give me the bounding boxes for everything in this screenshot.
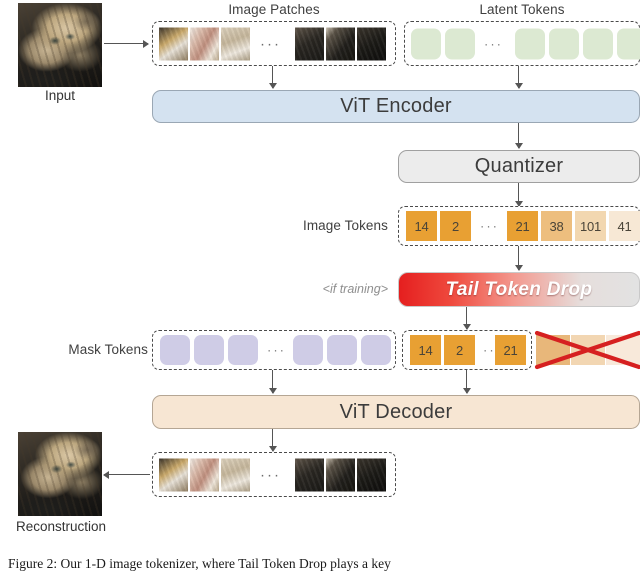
latent-tokens-ellipsis: ··· [484,37,503,50]
output-patch-light-3 [221,458,250,491]
mask-tokens-group: ··· [152,330,396,370]
latent-token-3 [515,28,545,59]
arrow-encoder-to-quantizer [518,123,519,148]
image-tokens-group: 14 2 ··· 21 38 101 41 [398,206,640,246]
arrow-kept-tokens-to-decoder [466,370,467,393]
kept-token-14: 14 [410,335,441,365]
mask-token-2 [194,335,224,365]
output-patch-dark-2 [326,458,355,491]
output-patch-dark-3 [357,458,386,491]
dropped-tokens-group [536,335,640,365]
arrow-image-tokens-to-drop [518,246,519,270]
kept-token-21: 21 [495,335,526,365]
output-patch-light-2 [190,458,219,491]
latent-tokens-group: ··· [404,21,640,66]
image-token-101: 101 [575,211,606,241]
reconstruction-label: Reconstruction [6,519,116,534]
image-token-21: 21 [507,211,538,241]
if-training-label: <if training> [268,282,388,296]
mask-token-3 [228,335,258,365]
input-label: Input [18,88,102,103]
mask-token-4 [293,335,323,365]
image-patch-light-3 [221,27,250,60]
mask-token-5 [327,335,357,365]
arrow-decoder-to-output-patches [272,429,273,451]
tail-token-drop-block[interactable]: Tail Token Drop [398,272,640,307]
output-patch-light-1 [159,458,188,491]
image-token-14: 14 [406,211,437,241]
arrow-quantizer-to-image-tokens [518,183,519,206]
quantizer-block[interactable]: Quantizer [398,150,640,183]
image-token-38: 38 [541,211,572,241]
latent-token-6 [617,28,640,59]
image-patches-group: ··· [152,21,396,66]
kept-tokens-group: 14 2 ··· 21 [402,330,532,370]
image-tokens-label: Image Tokens [258,218,388,233]
mask-tokens-label: Mask Tokens [18,342,148,357]
figure-canvas: Input Image Patches Latent Tokens ··· ··… [0,0,640,570]
image-patch-dark-1 [295,27,324,60]
image-token-2: 2 [440,211,471,241]
arrow-input-to-patches [104,43,148,44]
mask-token-1 [160,335,190,365]
latent-token-4 [549,28,579,59]
vit-decoder-block[interactable]: ViT Decoder [152,395,640,429]
latent-token-5 [583,28,613,59]
red-x-icon [532,329,640,371]
image-patches-label: Image Patches [152,2,396,17]
image-tokens-ellipsis: ··· [480,220,499,233]
output-patch-dark-1 [295,458,324,491]
kept-token-2: 2 [444,335,475,365]
latent-tokens-label: Latent Tokens [404,2,640,17]
arrow-patches-to-reconstruction [104,474,150,475]
output-patches-ellipsis: ··· [260,467,281,482]
reconstruction-image-thumbnail [18,432,102,516]
image-patch-dark-3 [357,27,386,60]
arrow-drop-to-kept-tokens [466,307,467,329]
arrow-patches-to-encoder [272,66,273,88]
mask-tokens-ellipsis: ··· [267,344,286,357]
input-image-thumbnail [18,3,102,87]
image-patch-dark-2 [326,27,355,60]
image-token-41: 41 [609,211,640,241]
latent-token-2 [445,28,475,59]
vit-encoder-block[interactable]: ViT Encoder [152,90,640,123]
arrow-latents-to-encoder [518,66,519,88]
arrow-mask-tokens-to-decoder [272,370,273,393]
mask-token-6 [361,335,391,365]
image-patches-ellipsis: ··· [260,36,281,51]
latent-token-1 [411,28,441,59]
image-patch-light-1 [159,27,188,60]
output-patches-group: ··· [152,452,396,497]
image-patch-light-2 [190,27,219,60]
